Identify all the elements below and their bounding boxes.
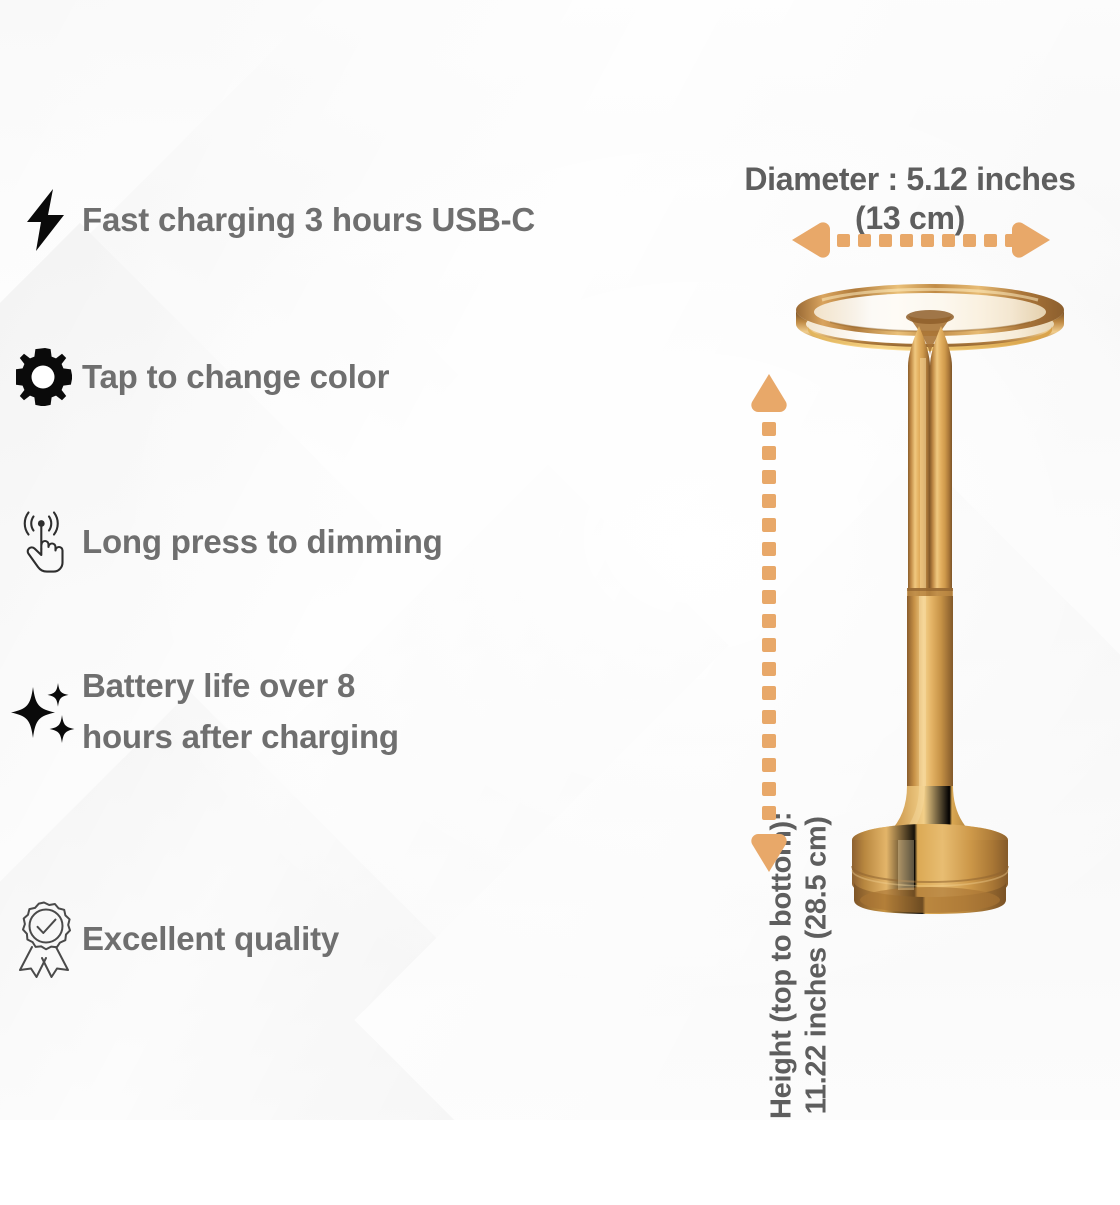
lightning-bolt-icon (8, 188, 82, 252)
quality-badge-icon (8, 900, 82, 978)
feature-label: Battery life over 8 hours after charging (82, 660, 399, 762)
height-arrow-vertical (750, 372, 788, 874)
feature-item-tap-color: Tap to change color (8, 348, 389, 406)
feature-label: Fast charging 3 hours USB-C (82, 199, 535, 241)
tap-hand-icon (8, 508, 82, 576)
feature-list: Fast charging 3 hours USB-C Tap to chang… (0, 0, 720, 1120)
feature-item-long-press: Long press to dimming (8, 508, 443, 576)
sparkles-icon (8, 673, 82, 749)
diameter-arrow-horizontal (790, 222, 1052, 258)
feature-label: Long press to dimming (82, 521, 443, 563)
feature-item-battery-life: Battery life over 8 hours after charging (8, 660, 399, 762)
feature-item-excellent-quality: Excellent quality (8, 900, 339, 978)
lamp-stem-upper (908, 326, 952, 596)
lamp-shade (796, 284, 1064, 356)
feature-label: Tap to change color (82, 356, 389, 398)
lamp-base (852, 824, 1008, 914)
feature-label: Excellent quality (82, 918, 339, 960)
feature-item-fast-charging: Fast charging 3 hours USB-C (8, 188, 535, 252)
gear-icon (8, 348, 82, 406)
lamp-stem-lower (907, 596, 953, 786)
